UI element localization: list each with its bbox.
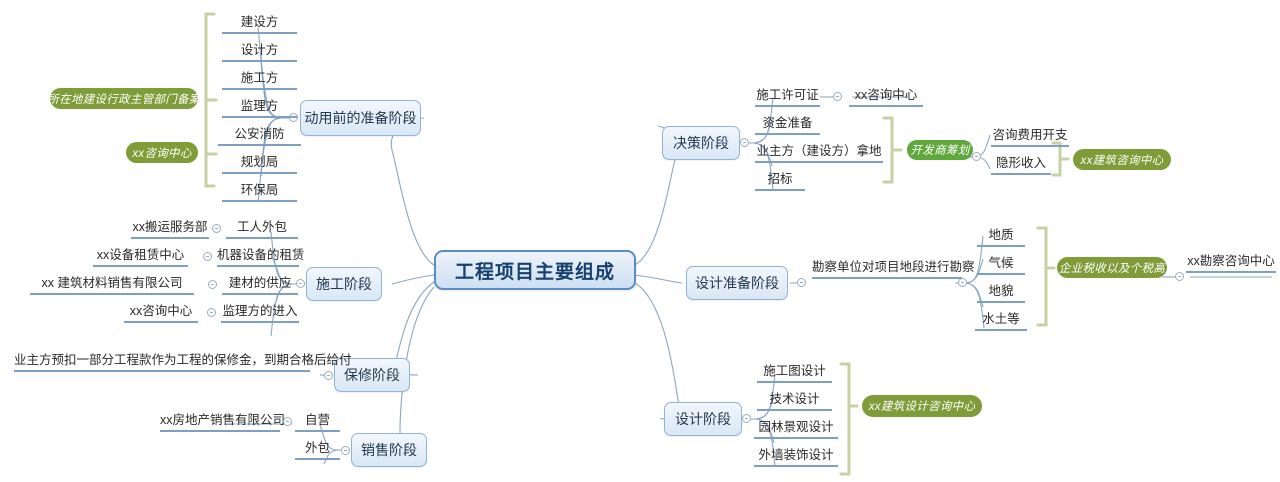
collapse-handle-planning[interactable] xyxy=(972,152,981,161)
collapse-handle-row[interactable] xyxy=(212,224,221,233)
leaf-item[interactable]: 施工图设计 xyxy=(757,364,832,383)
leaf-item[interactable]: 设计方 xyxy=(222,43,297,62)
stage-label-preparation: 动用前的准备阶段 xyxy=(305,108,417,128)
leaf-item[interactable]: 资金准备 xyxy=(755,116,820,135)
stage-node-decision[interactable]: 决策阶段 xyxy=(662,126,740,160)
collapse-handle-row[interactable] xyxy=(208,280,217,289)
leaf-item[interactable]: 工人外包 xyxy=(226,220,298,239)
leaf-item[interactable]: 业主方（建设方）拿地 xyxy=(755,144,883,163)
stage-node-preparation[interactable]: 动用前的准备阶段 xyxy=(300,100,421,136)
sub-leaf-item[interactable]: xx咨询中心 xyxy=(849,88,923,107)
stage-node-design-prep[interactable]: 设计准备阶段 xyxy=(686,266,788,300)
sub-leaf-item[interactable]: xx搬运服务部 xyxy=(131,220,209,239)
stage-node-sales[interactable]: 销售阶段 xyxy=(351,433,427,467)
callout-label[interactable]: 企业税收以及个税高 xyxy=(1057,257,1167,278)
sub-leaf-item[interactable]: xx房地产销售有限公司 xyxy=(160,413,280,432)
sub-leaf-item[interactable]: xx 建筑材料销售有限公司 xyxy=(30,276,194,295)
callout-label[interactable]: xx建筑设计咨询中心 xyxy=(862,395,982,417)
leaf-item[interactable]: 外包 xyxy=(295,441,340,460)
stage-label-construction: 施工阶段 xyxy=(316,274,372,294)
leaf-item[interactable]: 勘察单位对项目地段进行勘察 xyxy=(812,260,962,279)
leaf-item[interactable]: 气候 xyxy=(977,256,1025,275)
connector-wires xyxy=(0,0,1280,482)
leaf-item[interactable]: 建材的供应 xyxy=(222,276,298,295)
leaf-item[interactable]: 监理方 xyxy=(222,99,297,118)
leaf-item[interactable]: 咨询费用开支 xyxy=(991,128,1069,147)
collapse-handle-row[interactable] xyxy=(283,417,292,426)
stage-node-construction[interactable]: 施工阶段 xyxy=(306,267,382,301)
sub-leaf-item[interactable]: xx咨询中心 xyxy=(124,304,198,323)
stage-label-design-prep: 设计准备阶段 xyxy=(695,273,779,293)
leaf-item[interactable]: 自营 xyxy=(295,413,340,432)
collapse-handle-decision[interactable] xyxy=(740,138,749,147)
mindmap-canvas: 工程项目主要组成 动用前的准备阶段 建设方 设计方 施工方 监理方 公安消防 规… xyxy=(0,0,1280,482)
collapse-handle-survey[interactable] xyxy=(958,278,967,287)
center-node-label: 工程项目主要组成 xyxy=(455,257,615,284)
leaf-item[interactable]: 外墙装饰设计 xyxy=(754,448,838,467)
leaf-item[interactable]: 技术设计 xyxy=(757,392,832,411)
leaf-item[interactable]: 施工方 xyxy=(222,71,297,90)
leaf-item[interactable]: 隐形收入 xyxy=(991,156,1051,175)
leaf-item[interactable]: 机器设备的租赁 xyxy=(217,248,299,267)
collapse-handle-row[interactable] xyxy=(833,92,842,101)
leaf-item[interactable]: 建设方 xyxy=(222,15,297,34)
leaf-item[interactable]: 水土等 xyxy=(975,312,1027,331)
collapse-handle-design-prep[interactable] xyxy=(797,278,806,287)
collapse-handle-row[interactable] xyxy=(207,308,216,317)
leaf-item[interactable]: 地貌 xyxy=(977,284,1025,303)
sub-leaf-item[interactable]: xx设备租赁中心 xyxy=(93,248,188,267)
leaf-item[interactable]: 招标 xyxy=(755,172,805,191)
stage-label-sales: 销售阶段 xyxy=(361,440,417,460)
collapse-handle-design[interactable] xyxy=(742,414,751,423)
callout-label[interactable]: 开发商筹划 xyxy=(907,140,973,160)
stage-label-design: 设计阶段 xyxy=(675,409,731,429)
callout-label[interactable]: xx咨询中心 xyxy=(126,142,198,163)
leaf-item[interactable]: 施工许可证 xyxy=(755,88,820,107)
callout-label[interactable]: 所在地建设行政主管部门备案 xyxy=(50,88,198,109)
stage-label-decision: 决策阶段 xyxy=(673,133,729,153)
callout-label[interactable]: xx建筑咨询中心 xyxy=(1073,149,1171,170)
stage-label-warranty: 保修阶段 xyxy=(344,365,400,385)
leaf-item[interactable]: xx勘察咨询中心 xyxy=(1186,254,1276,273)
collapse-handle-warranty[interactable] xyxy=(324,371,333,380)
leaf-item[interactable]: 规划局 xyxy=(222,155,297,174)
leaf-item[interactable]: 公安消防 xyxy=(218,127,301,146)
collapse-handle-row[interactable] xyxy=(203,252,212,261)
leaf-item[interactable]: 环保局 xyxy=(222,183,297,202)
center-node[interactable]: 工程项目主要组成 xyxy=(434,250,636,290)
stage-node-design[interactable]: 设计阶段 xyxy=(664,402,742,436)
collapse-handle-tax[interactable] xyxy=(1175,272,1184,281)
leaf-item[interactable]: 地质 xyxy=(977,228,1025,247)
leaf-item[interactable]: 业主方预扣一部分工程款作为工程的保修金，到期合格后给付 xyxy=(14,353,310,372)
leaf-item[interactable]: 园林景观设计 xyxy=(754,420,838,439)
collapse-handle-sales[interactable] xyxy=(341,446,350,455)
leaf-item[interactable]: 监理方的进入 xyxy=(221,304,299,323)
